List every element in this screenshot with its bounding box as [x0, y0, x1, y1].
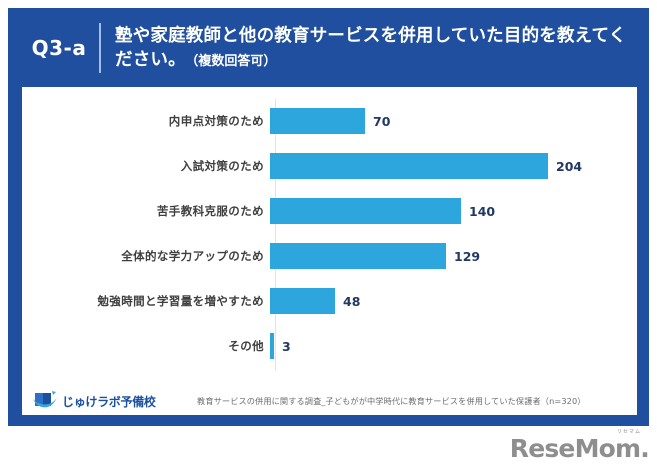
table-row: その他 3 [22, 324, 637, 368]
bar [270, 153, 548, 179]
bar [270, 288, 335, 314]
bar-value-label: 3 [282, 339, 291, 354]
brand-name: じゅけラボ予備校 [62, 393, 156, 410]
chart-panel: 内申点対策のため 70 入試対策のため 204 苦手教科克服のため 140 [22, 87, 637, 387]
resemom-watermark: リセマム ReseMom. [510, 430, 649, 461]
bar-value-label: 48 [343, 294, 360, 309]
question-title: 塾や家庭教師と他の教育サービスを併用していた目的を教えてください。（複数回答可） [115, 24, 650, 72]
category-label: 勉強時間と学習量を増やすため [22, 293, 270, 309]
bar-value-label: 129 [454, 249, 480, 264]
bar-container: 48 [270, 279, 637, 323]
bar-container: 3 [270, 324, 637, 368]
header-divider [99, 23, 101, 73]
table-row: 入試対策のため 204 [22, 144, 637, 188]
watermark-text: ReseMom. [510, 434, 649, 463]
source-note: 教育サービスの併用に関する調査_子どもがが中学時代に教育サービスを併用していた保… [156, 395, 637, 407]
question-number: Q3-a [23, 36, 95, 60]
bar-container: 70 [270, 99, 637, 143]
table-row: 全体的な学力アップのため 129 [22, 234, 637, 278]
bar-value-label: 140 [469, 204, 495, 219]
category-label: 内申点対策のため [22, 113, 270, 129]
question-note: （複数回答可） [192, 54, 277, 69]
book-swoosh-icon [32, 390, 58, 412]
bar-container: 140 [270, 189, 637, 233]
bar [270, 243, 446, 269]
bar-value-label: 204 [556, 159, 582, 174]
bar [270, 108, 365, 134]
category-label: 入試対策のため [22, 158, 270, 174]
table-row: 内申点対策のため 70 [22, 99, 637, 143]
bar-container: 129 [270, 234, 637, 278]
bar-container: 204 [270, 144, 637, 188]
category-label: その他 [22, 338, 270, 354]
table-row: 勉強時間と学習量を増やすため 48 [22, 279, 637, 323]
brand-logo[interactable]: じゅけラボ予備校 [22, 390, 156, 412]
question-header: Q3-a 塾や家庭教師と他の教育サービスを併用していた目的を教えてください。（複… [9, 9, 650, 87]
bar [270, 333, 274, 359]
bar-chart: 内申点対策のため 70 入試対策のため 204 苦手教科克服のため 140 [22, 87, 637, 387]
chart-footer: じゅけラボ予備校 教育サービスの併用に関する調査_子どもがが中学時代に教育サービ… [22, 387, 637, 415]
category-label: 苦手教科克服のため [22, 203, 270, 219]
slide-card: Q3-a 塾や家庭教師と他の教育サービスを併用していた目的を教えてください。（複… [8, 8, 649, 426]
category-label: 全体的な学力アップのため [22, 248, 270, 264]
bar [270, 198, 461, 224]
table-row: 苦手教科克服のため 140 [22, 189, 637, 233]
bar-value-label: 70 [373, 114, 390, 129]
